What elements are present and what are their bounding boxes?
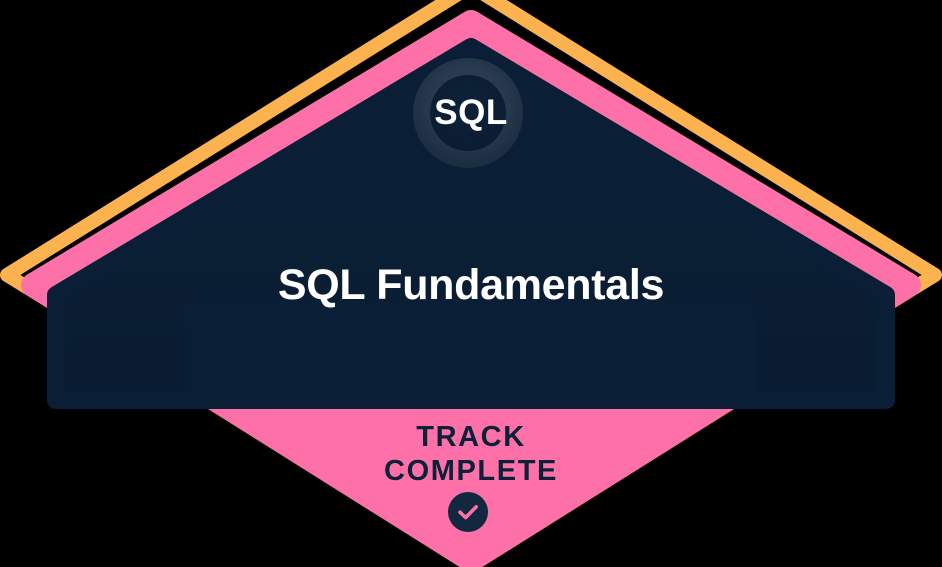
check-circle-background xyxy=(448,492,488,532)
sql-ring-emblem-core xyxy=(430,75,506,151)
track-completion-badge: SQL SQL Fundamentals TRACK COMPLETE xyxy=(0,0,942,567)
navy-interior-base xyxy=(185,300,757,400)
check-circle-icon xyxy=(448,492,488,532)
badge-artwork xyxy=(0,0,942,567)
